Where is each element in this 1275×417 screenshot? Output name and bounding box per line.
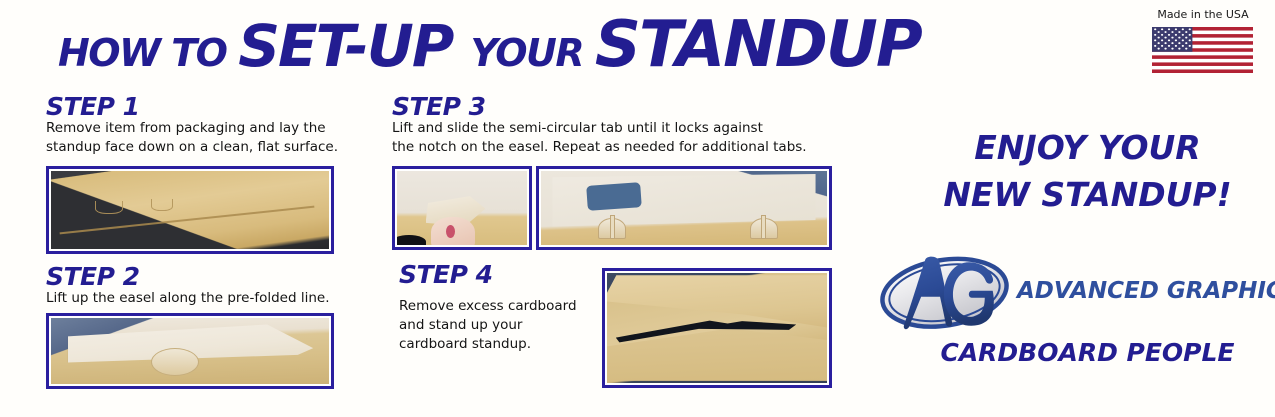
brand-name: ADVANCED GRAPHICS bbox=[1017, 278, 1275, 304]
closing-line-1: ENJOY YOUR bbox=[900, 128, 1275, 167]
closing-line-2: NEW STANDUP! bbox=[900, 175, 1275, 214]
made-in-usa-label: Made in the USA bbox=[1152, 8, 1254, 21]
page-title: HOW TO SET-UP YOUR STANDUP bbox=[58, 8, 878, 84]
step-3-photo-right bbox=[541, 171, 827, 245]
step-3-body: Lift and slide the semi-circular tab unt… bbox=[392, 119, 832, 157]
step-4-photo-frame bbox=[602, 268, 832, 388]
step-2-body: Lift up the easel along the pre-folded l… bbox=[46, 289, 346, 308]
semi-circular-tab bbox=[151, 348, 199, 376]
usa-flag-icon bbox=[1152, 27, 1253, 73]
step-4-photo bbox=[607, 273, 827, 383]
step-3-photo-left bbox=[397, 171, 527, 245]
title-part-your: YOUR bbox=[471, 31, 595, 75]
title-part-how-to: HOW TO bbox=[58, 31, 238, 75]
shadow-area bbox=[397, 235, 426, 245]
advanced-graphics-logo bbox=[877, 252, 1012, 334]
step-2-photo-frame bbox=[46, 313, 334, 389]
step-2-heading: STEP 2 bbox=[46, 262, 140, 291]
step-3-photo-frame-right bbox=[536, 166, 832, 250]
step-3-photo-frame-left bbox=[392, 166, 532, 250]
tab-fin-2 bbox=[761, 215, 766, 239]
brand-tagline: CARDBOARD PEOPLE bbox=[900, 338, 1275, 367]
tab-fin-1 bbox=[610, 215, 615, 239]
step-4-heading: STEP 4 bbox=[399, 260, 493, 289]
step-2-photo bbox=[51, 318, 329, 384]
title-part-setup: SET-UP bbox=[238, 12, 470, 80]
notch-window bbox=[586, 182, 642, 211]
step-4-body: Remove excess cardboard and stand up you… bbox=[399, 297, 599, 354]
title-part-standup: STANDUP bbox=[595, 8, 921, 82]
tab-outline-a bbox=[95, 201, 123, 214]
step-1-heading: STEP 1 bbox=[46, 92, 140, 121]
step-1-photo bbox=[51, 171, 329, 249]
step-1-body: Remove item from packaging and lay the s… bbox=[46, 119, 346, 157]
step-1-photo-frame bbox=[46, 166, 334, 254]
instruction-poster: HOW TO SET-UP YOUR STANDUP Made in the U… bbox=[0, 0, 1275, 417]
step-3-heading: STEP 3 bbox=[392, 92, 486, 121]
tab-outline-b bbox=[151, 199, 173, 211]
